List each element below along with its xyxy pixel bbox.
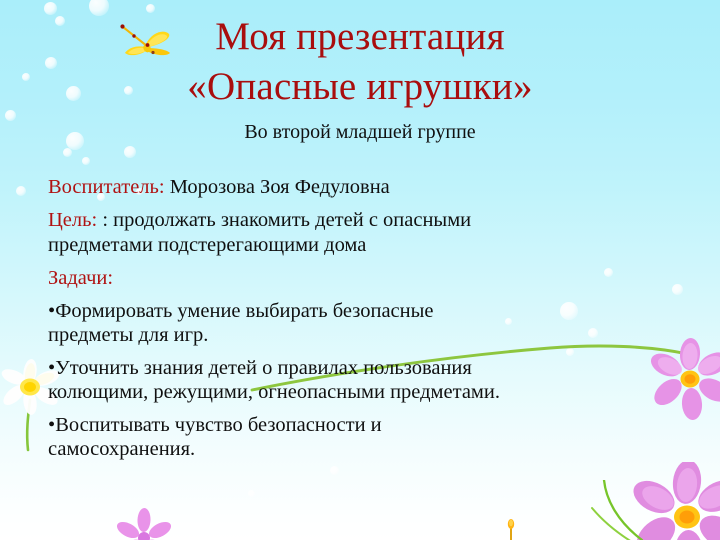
list-item: •Воспитывать чувство безопасности и [48, 414, 678, 438]
page-title-line-2: «Опасные игрушки» [0, 62, 720, 112]
list-item-line-2-wrap: колющими, режущими, огнеопасными предмет… [48, 381, 678, 405]
goal-line-1: Цель: : продолжать знакомить детей с опа… [48, 209, 678, 233]
background-bubble [248, 490, 255, 497]
list-item: •Уточнить знания детей о правилах пользо… [48, 357, 678, 381]
goal-value-1: : продолжать знакомить детей с опасными [97, 209, 471, 231]
background-bubble [82, 157, 90, 165]
list-item-line-1: Формировать умение выбирать безопасные [55, 300, 433, 322]
list-item-line-1: Воспитывать чувство безопасности и [55, 414, 381, 436]
background-bubble [16, 186, 26, 196]
tasks-label: Задачи: [48, 267, 678, 291]
goal-line-2: предметами подстерегающими дома [48, 234, 678, 258]
small-pink-flower-icon [116, 506, 172, 540]
body-block: Воспитатель: Морозова Зоя Федуловна Цель… [48, 176, 678, 461]
list-item: •Формировать умение выбирать безопасные [48, 300, 678, 324]
orange-bud-icon [504, 518, 518, 540]
teacher-value: Морозова Зоя Федуловна [165, 176, 390, 198]
presentation-slide: Моя презентация «Опасные игрушки» Во вто… [0, 0, 720, 540]
background-bubble [330, 466, 339, 475]
background-bubble [124, 146, 136, 158]
page-title-line-1: Моя презентация [0, 12, 720, 62]
teacher-line: Воспитатель: Морозова Зоя Федуловна [48, 176, 678, 200]
list-item-line-2-wrap: предметы для игр. [48, 324, 678, 348]
green-stem-icon [570, 480, 680, 540]
goal-label: Цель: [48, 209, 97, 231]
list-item-line-2-wrap: самосохранения. [48, 438, 678, 462]
teacher-label: Воспитатель: [48, 176, 165, 198]
list-item-line-1: Уточнить знания детей о правилах пользов… [55, 357, 472, 379]
background-bubble [63, 148, 72, 157]
page-subtitle: Во второй младшей группе [0, 119, 720, 145]
title-block: Моя презентация «Опасные игрушки» Во вто… [0, 12, 720, 145]
